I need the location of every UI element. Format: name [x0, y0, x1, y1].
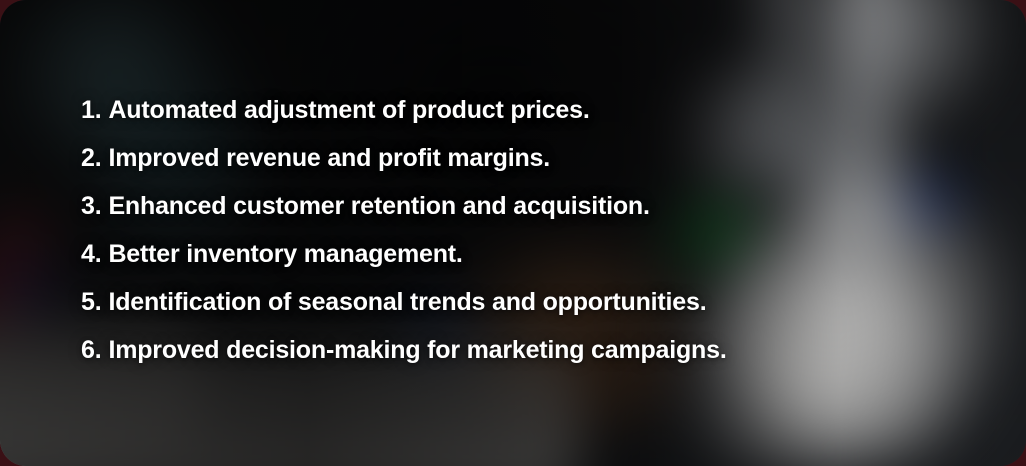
list-item-number: 2.: [81, 144, 101, 173]
benefits-list: 1. Automated adjustment of product price…: [81, 96, 981, 384]
list-item: 4. Better inventory management.: [81, 240, 981, 288]
list-item-label: Better inventory management.: [108, 240, 462, 269]
list-item-label: Improved revenue and profit margins.: [108, 144, 550, 173]
list-item-number: 6.: [81, 336, 101, 365]
list-item: 6. Improved decision-making for marketin…: [81, 336, 981, 384]
slide-card: 1. Automated adjustment of product price…: [0, 0, 1026, 466]
list-item-number: 1.: [81, 96, 101, 125]
list-item-number: 3.: [81, 192, 101, 221]
list-item-label: Enhanced customer retention and acquisit…: [108, 192, 649, 221]
list-item: 5. Identification of seasonal trends and…: [81, 288, 981, 336]
list-item-label: Automated adjustment of product prices.: [108, 96, 589, 125]
list-item-number: 5.: [81, 288, 101, 317]
list-item: 2. Improved revenue and profit margins.: [81, 144, 981, 192]
list-item: 3. Enhanced customer retention and acqui…: [81, 192, 981, 240]
list-item-number: 4.: [81, 240, 101, 269]
list-item-label: Improved decision-making for marketing c…: [108, 336, 726, 365]
list-item: 1. Automated adjustment of product price…: [81, 96, 981, 144]
list-item-label: Identification of seasonal trends and op…: [108, 288, 706, 317]
